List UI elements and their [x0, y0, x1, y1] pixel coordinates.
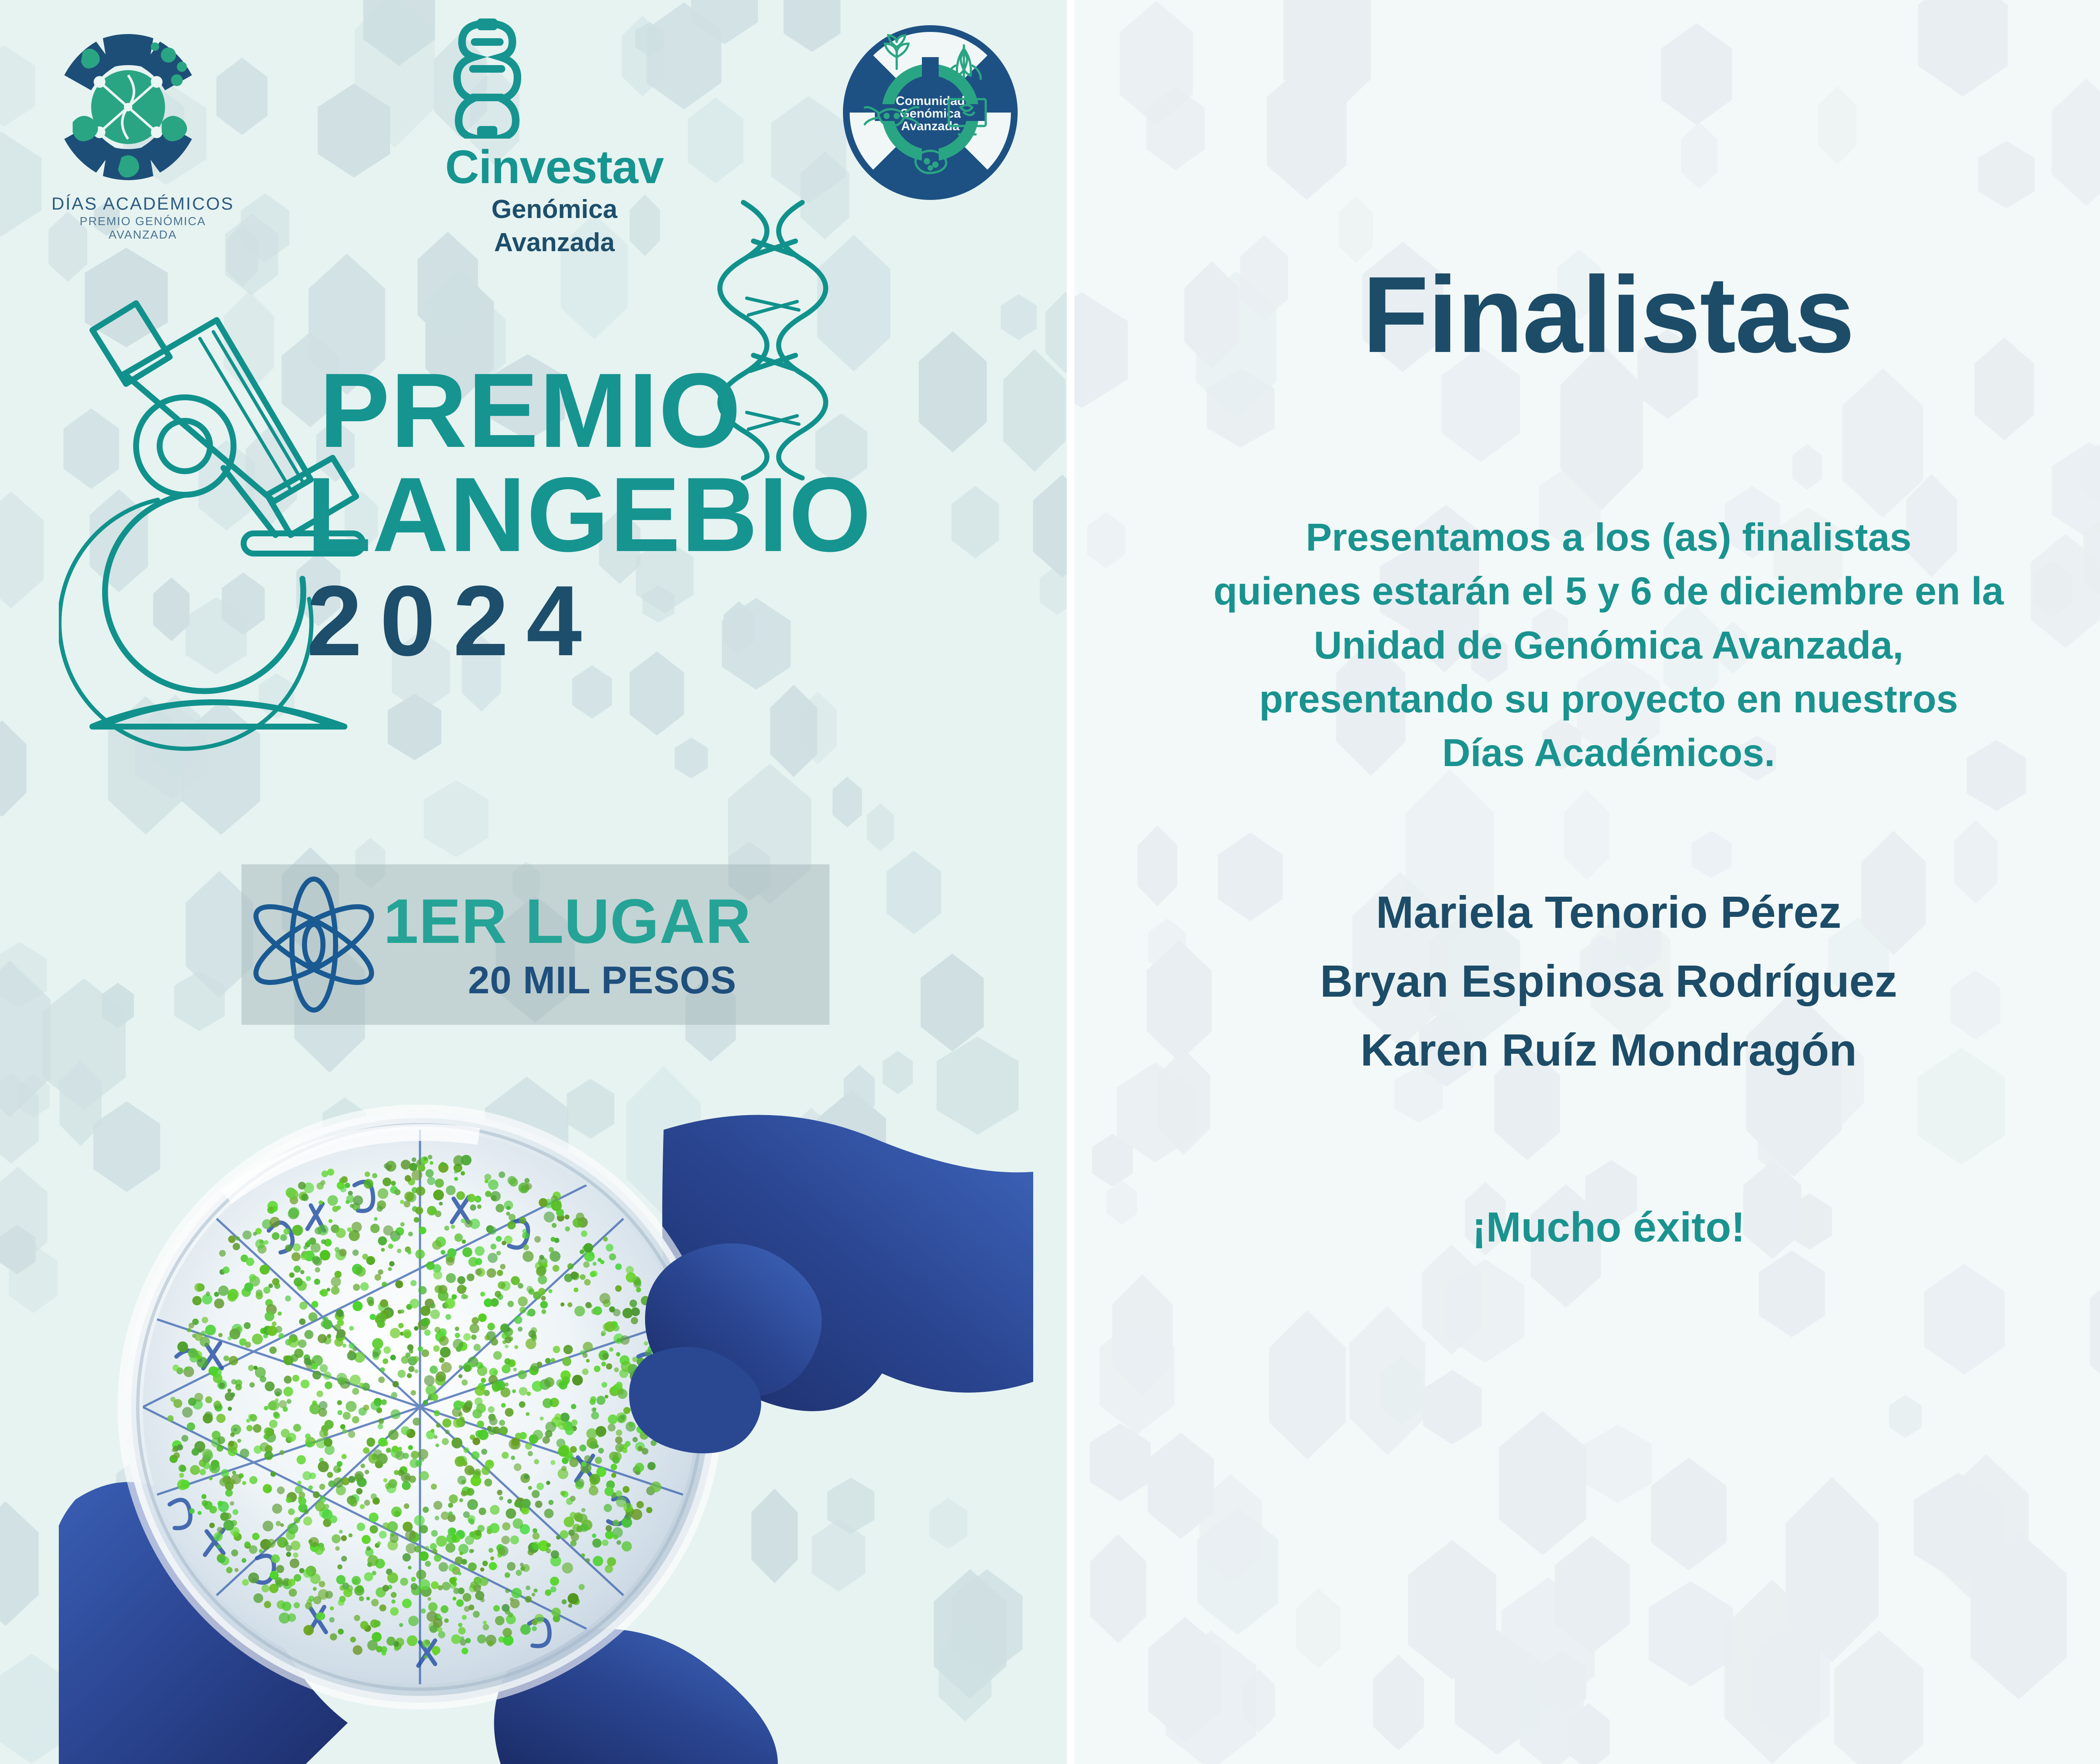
dias-academicos-emblem-icon: [44, 23, 241, 191]
cinvestav-emblem-icon: [424, 17, 685, 139]
paragraph-line: presentando su proyecto en nuestros: [1134, 672, 2083, 726]
atom-icon: [249, 873, 379, 1016]
finalist-name: Karen Ruíz Mondragón: [1134, 1016, 2083, 1084]
closing-message: ¡Mucho éxito!: [1134, 1203, 2083, 1252]
finalist-name: Bryan Espinosa Rodríguez: [1134, 947, 2083, 1016]
title-line-premio: PREMIO: [319, 361, 1042, 461]
panel-divider: [1067, 0, 1074, 1764]
finalist-name: Mariela Tenorio Pérez: [1134, 878, 2083, 947]
logo-cinvestav-line2: Avanzada: [424, 228, 685, 257]
title-year: 2024: [307, 571, 1042, 671]
comunidad-genomica-emblem-icon: Comunidad Genómica Avanzada: [838, 20, 1056, 205]
logo-dias-academicos: DÍAS ACADÉMICOS PREMIO GENÓMICA AVANZADA: [44, 23, 241, 241]
logo-cinvestav-title: Cinvestav: [424, 144, 685, 191]
left-panel: DÍAS ACADÉMICOS PREMIO GENÓMICA AVANZADA: [0, 0, 1067, 1764]
logo-row: DÍAS ACADÉMICOS PREMIO GENÓMICA AVANZADA: [0, 0, 1067, 260]
prize-amount-label: 20 MIL PESOS: [383, 961, 821, 1000]
paragraph-line: quienes estarán el 5 y 6 de diciembre en…: [1134, 564, 2083, 618]
logo-cinvestav: Cinvestav Genómica Avanzada: [424, 17, 685, 257]
paragraph-line: Presentamos a los (as) finalistas: [1134, 510, 2083, 564]
logo-dias-subtitle: PREMIO GENÓMICA AVANZADA: [44, 215, 241, 241]
logo-dias-title: DÍAS ACADÉMICOS: [44, 194, 241, 214]
prize-badge: 1ER LUGAR 20 MIL PESOS: [241, 864, 829, 1025]
page-title: Finalistas: [1074, 252, 2100, 377]
prize-place-label: 1ER LUGAR: [383, 890, 821, 953]
logo-comunidad-genomica: Comunidad Genómica Avanzada: [838, 20, 1056, 205]
paragraph-line: Días Académicos.: [1134, 726, 2083, 780]
main-title: PREMIO LANGEBIO 2024: [319, 361, 1042, 671]
finalists-list: Mariela Tenorio Pérez Bryan Espinosa Rod…: [1134, 878, 2083, 1084]
poster-root: DÍAS ACADÉMICOS PREMIO GENÓMICA AVANZADA: [0, 0, 2100, 1764]
petri-dish: [124, 1111, 716, 1703]
prize-text: 1ER LUGAR 20 MIL PESOS: [379, 890, 829, 1000]
paragraph-line: Unidad de Genómica Avanzada,: [1134, 618, 2083, 672]
comunidad-center-line1: Comunidad: [896, 94, 965, 108]
title-line-langebio: LANGEBIO: [307, 463, 1042, 567]
intro-paragraph: Presentamos a los (as) finalistas quiene…: [1134, 510, 2083, 780]
logo-cinvestav-line1: Genómica: [424, 195, 685, 224]
petri-dish-photo: [59, 1105, 1033, 1764]
